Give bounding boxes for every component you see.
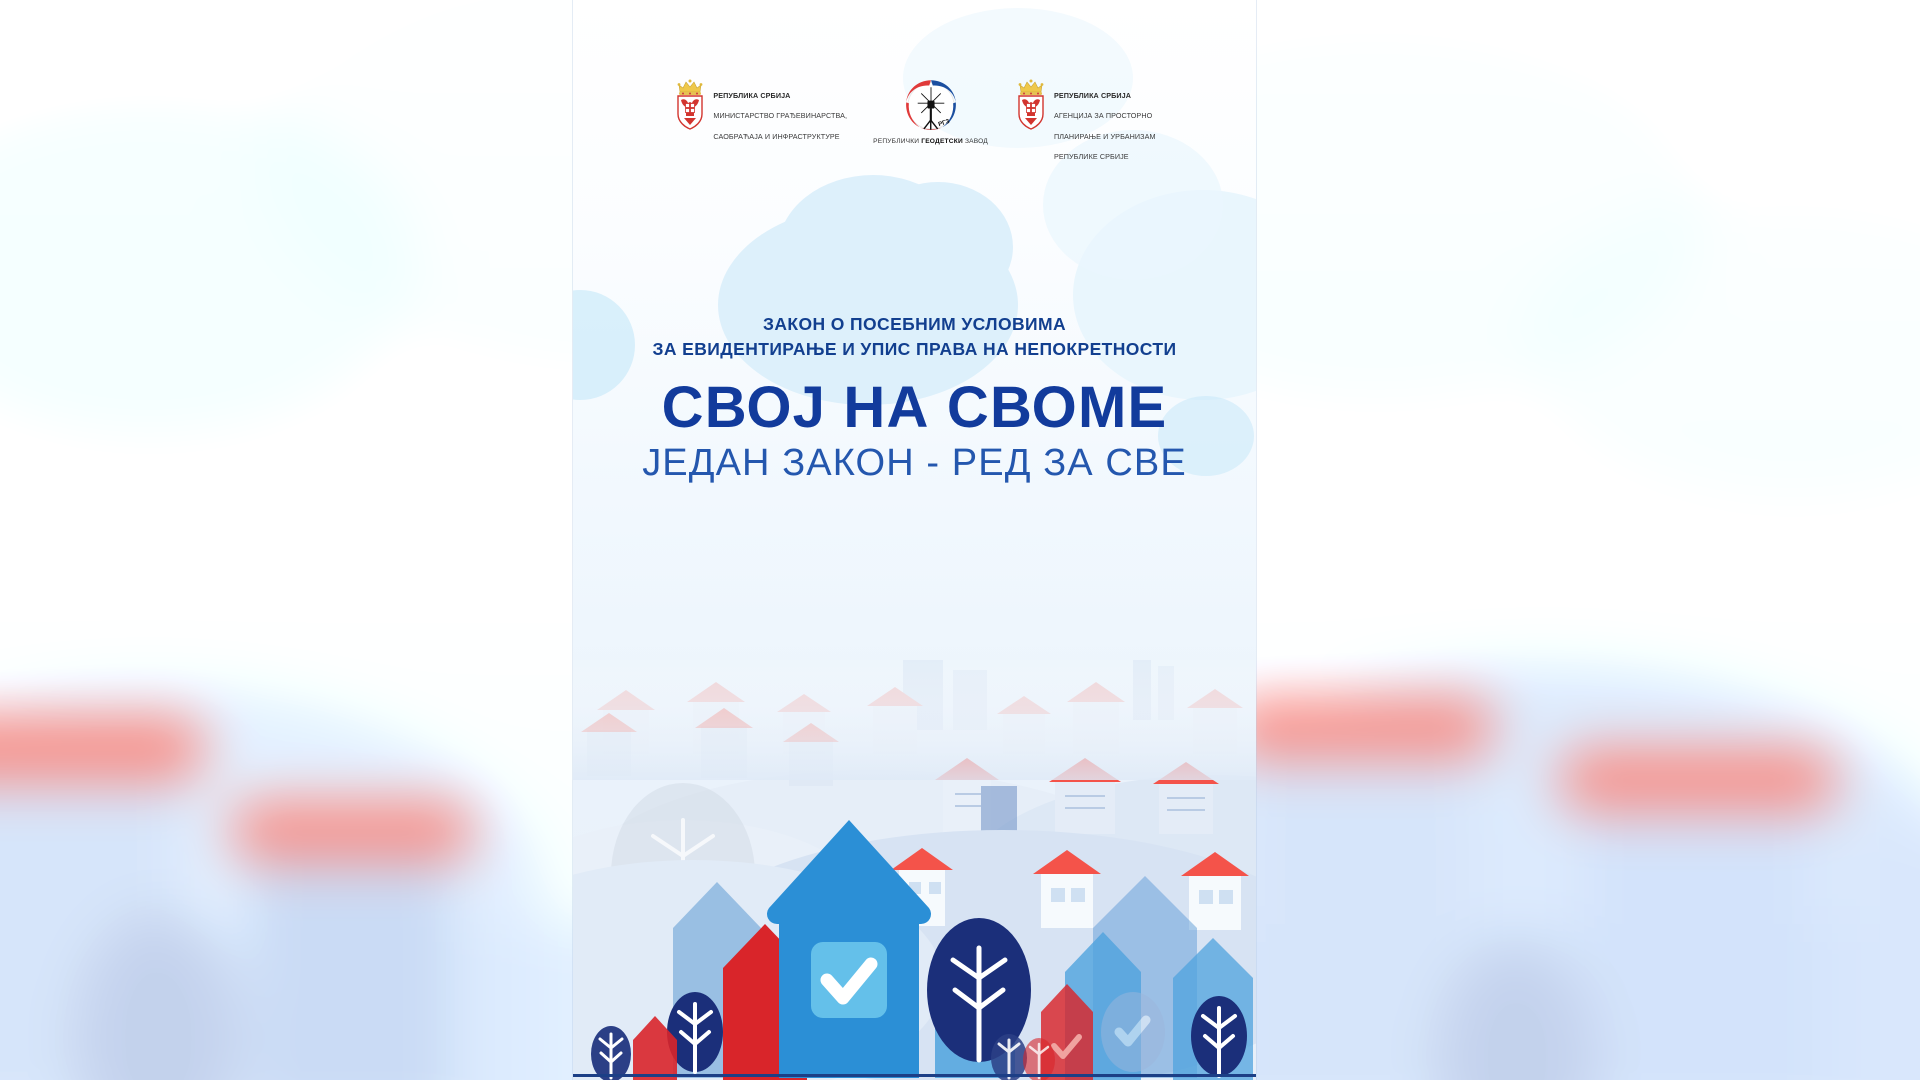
ministry-logo-text: РЕПУБЛИКА СРБИЈА МИНИСТАРСТВО ГРАЂЕВИНАР… bbox=[713, 78, 847, 145]
rgz-caption-bold: ГЕОДЕТСКИ bbox=[921, 138, 963, 145]
neighbourhood-illustration bbox=[573, 660, 1256, 1080]
poster-subtitle: ЈЕДАН ЗАКОН - РЕД ЗА СВЕ bbox=[573, 443, 1256, 485]
rgz-caption-suffix: ЗАВОД bbox=[963, 138, 988, 145]
cloud-shape-lobe-2 bbox=[863, 182, 1013, 312]
geodetic-authority-logo: РГЗ РЕПУБЛИЧКИ ГЕОДЕТСКИ ЗАВОД bbox=[873, 74, 988, 145]
ministry-line-2: МИНИСТАРСТВО ГРАЂЕВИНАРСТВА, bbox=[713, 111, 847, 120]
agency-line-2: АГЕНЦИЈА ЗА ПРОСТОРНО bbox=[1054, 111, 1152, 120]
poster-card: РЕПУБЛИКА СРБИЈА МИНИСТАРСТВО ГРАЂЕВИНАР… bbox=[573, 0, 1256, 1080]
agency-line-4: РЕПУБЛИКЕ СРБИЈЕ bbox=[1054, 152, 1129, 161]
serbian-coat-of-arms-icon bbox=[673, 78, 707, 130]
page-title: СВОЈ НА СВОМЕ bbox=[573, 378, 1256, 437]
navy-tree-icon-right bbox=[1191, 996, 1247, 1076]
geodetic-authority-caption: РЕПУБЛИЧКИ ГЕОДЕТСКИ ЗАВОД bbox=[873, 138, 988, 145]
poster-viewer: РЕПУБЛИКА СРБИЈА МИНИСТАРСТВО ГРАЂЕВИНАР… bbox=[0, 0, 1920, 1080]
law-title-line-1: ЗАКОН О ПОСЕБНИМ УСЛОВИМА bbox=[573, 312, 1256, 337]
agency-logo-text: РЕПУБЛИКА СРБИЈА АГЕНЦИЈА ЗА ПРОСТОРНО П… bbox=[1054, 78, 1156, 166]
rgz-caption-prefix: РЕПУБЛИЧКИ bbox=[873, 138, 921, 145]
bottom-rule bbox=[573, 1074, 1256, 1077]
ministry-logo: РЕПУБЛИКА СРБИЈА МИНИСТАРСТВО ГРАЂЕВИНАР… bbox=[673, 78, 847, 145]
navy-tree-icon-tiny bbox=[591, 1026, 631, 1080]
ministry-line-3: САОБРАЋАЈА И ИНФРАСТРУКТУРЕ bbox=[713, 132, 839, 141]
poster-titles: ЗАКОН О ПОСЕБНИМ УСЛОВИМА ЗА ЕВИДЕНТИРАЊ… bbox=[573, 312, 1256, 485]
illustration-svg bbox=[573, 660, 1256, 1080]
ministry-line-1: РЕПУБЛИКА СРБИЈА bbox=[713, 91, 790, 100]
geodetic-theodolite-logo-icon: РГЗ bbox=[900, 74, 962, 136]
organization-logos-row: РЕПУБЛИКА СРБИЈА МИНИСТАРСТВО ГРАЂЕВИНАР… bbox=[573, 78, 1256, 178]
law-title-line-2: ЗА ЕВИДЕНТИРАЊЕ И УПИС ПРАВА НА НЕПОКРЕТ… bbox=[573, 337, 1256, 362]
serbian-coat-of-arms-icon bbox=[1014, 78, 1048, 130]
agency-line-1: РЕПУБЛИКА СРБИЈА bbox=[1054, 91, 1131, 100]
agency-line-3: ПЛАНИРАЊЕ И УРБАНИЗАМ bbox=[1054, 132, 1156, 141]
spatial-planning-agency-logo: РЕПУБЛИКА СРБИЈА АГЕНЦИЈА ЗА ПРОСТОРНО П… bbox=[1014, 78, 1156, 166]
